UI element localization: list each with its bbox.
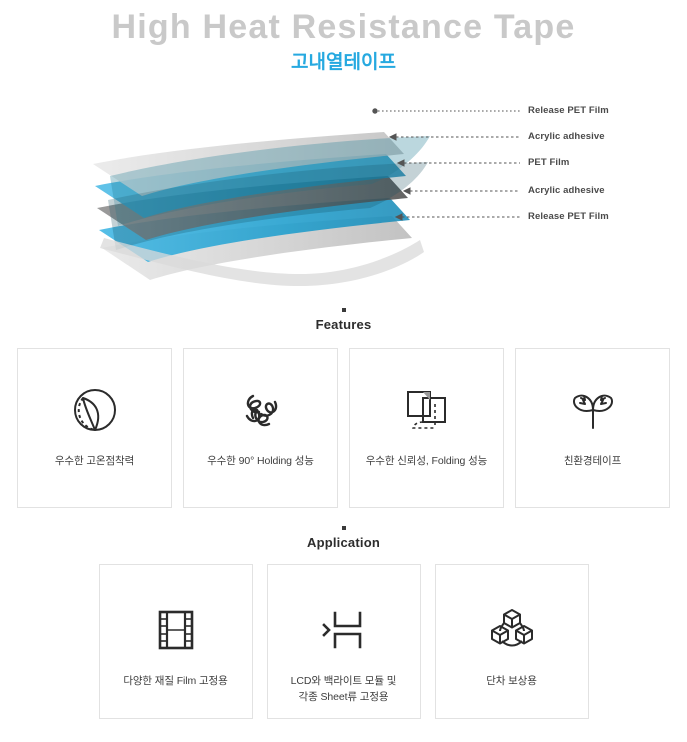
page-subtitle: 고내열테이프 xyxy=(0,50,687,76)
application-card-row: 다양한 재질 Film 고정용 LCD와 백라이트 모듈 및 각종 Sheet류… xyxy=(0,564,687,719)
layer-label-release-pet-film-top: Release PET Film xyxy=(528,105,609,116)
interlocking-knot-icon xyxy=(235,381,287,439)
feature-card-label: 우수한 고온점착력 xyxy=(55,453,134,469)
feature-card-holding[interactable]: 우수한 90° Holding 성능 xyxy=(183,348,338,508)
application-card-label-line1: LCD와 백라이트 모듈 및 xyxy=(291,675,397,687)
eco-leaf-icon xyxy=(567,381,619,439)
feature-card-label: 친환경테이프 xyxy=(564,453,621,469)
feature-card-folding[interactable]: 우수한 신뢰성, Folding 성능 xyxy=(349,348,504,508)
feature-card-eco[interactable]: 친환경테이프 xyxy=(515,348,670,508)
features-card-row: 우수한 고온점착력 우수한 90° Holding 성능 xyxy=(0,348,687,508)
application-heading: Application xyxy=(0,526,687,552)
feature-card-label: 우수한 신뢰성, Folding 성능 xyxy=(366,453,488,469)
stacked-cubes-icon xyxy=(486,601,538,659)
application-card-step-compensation[interactable]: 단차 보상용 xyxy=(435,564,589,719)
feature-card-adhesion[interactable]: 우수한 고온점착력 xyxy=(17,348,172,508)
features-heading-label: Features xyxy=(316,317,372,332)
layer-label-acrylic-adhesive-top: Acrylic adhesive xyxy=(528,131,605,142)
application-card-label: 다양한 재질 Film 고정용 xyxy=(123,673,227,689)
tape-layer-diagram: Release PET Film Acrylic adhesive PET Fi… xyxy=(0,80,687,290)
page-header: High Heat Resistance Tape 고내열테이프 xyxy=(0,0,687,76)
heading-dot-icon xyxy=(342,308,346,312)
feature-card-label: 우수한 90° Holding 성능 xyxy=(207,453,314,469)
features-heading: Features xyxy=(0,308,687,334)
layer-label-acrylic-adhesive-bottom: Acrylic adhesive xyxy=(528,185,605,196)
page-title: High Heat Resistance Tape xyxy=(0,6,687,48)
application-card-film[interactable]: 다양한 재질 Film 고정용 xyxy=(99,564,253,719)
adhesion-peel-icon xyxy=(69,381,121,439)
layer-label-pet-film: PET Film xyxy=(528,157,569,168)
application-card-label-line2: 각종 Sheet류 고정용 xyxy=(299,691,389,703)
application-card-lcd[interactable]: LCD와 백라이트 모듈 및 각종 Sheet류 고정용 xyxy=(267,564,421,719)
layer-label-release-pet-film-bottom: Release PET Film xyxy=(528,211,609,222)
application-card-label: LCD와 백라이트 모듈 및 각종 Sheet류 고정용 xyxy=(291,673,397,705)
heading-dot-icon xyxy=(342,526,346,530)
film-strip-icon xyxy=(153,601,199,659)
lcd-module-bracket-icon xyxy=(318,601,370,659)
folding-sheet-icon xyxy=(401,381,453,439)
application-heading-label: Application xyxy=(307,535,380,550)
application-card-label: 단차 보상용 xyxy=(486,673,537,689)
